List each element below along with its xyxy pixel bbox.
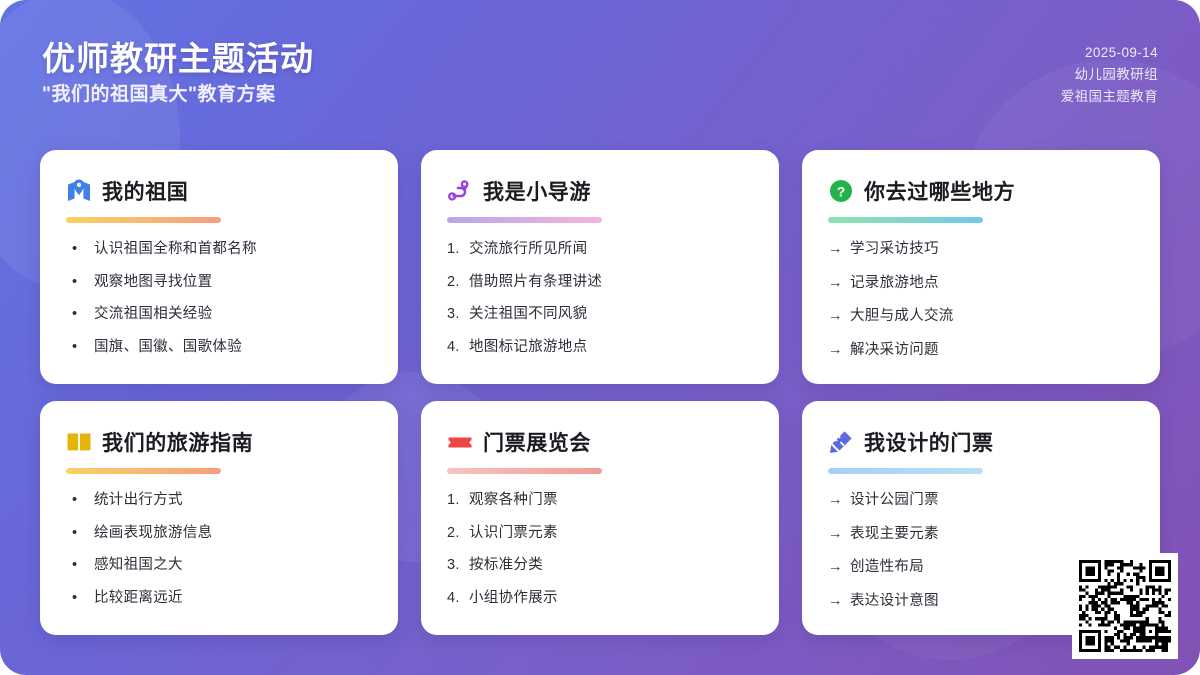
meta-theme: 爱祖国主题教育 [1061, 86, 1158, 108]
arrow-icon: → [828, 341, 850, 361]
list-marker-number: 3. [447, 556, 469, 576]
list-item-label: 借助照片有条理讲述 [469, 273, 602, 293]
arrow-icon: → [828, 558, 850, 578]
list-item: 4.小组协作展示 [447, 589, 753, 609]
list-marker-bullet: • [72, 338, 94, 358]
meta-date: 2025-09-14 [1061, 42, 1158, 64]
route-icon [447, 178, 473, 204]
card-item-list: 1.观察各种门票2.认识门票元素3.按标准分类4.小组协作展示 [447, 491, 753, 608]
card-accent-rule [447, 468, 602, 474]
slide-header: 优师教研主题活动 "我们的祖国真大"教育方案 2025-09-14 幼儿园教研组… [0, 0, 1200, 140]
list-item-label: 认识门票元素 [469, 524, 558, 544]
card-accent-rule [66, 217, 221, 223]
page-subtitle: "我们的祖国真大"教育方案 [42, 83, 314, 108]
map-pin-icon [66, 178, 92, 204]
list-marker-bullet: • [72, 240, 94, 260]
list-marker-bullet: • [72, 556, 94, 576]
header-meta: 2025-09-14 幼儿园教研组 爱祖国主题教育 [1061, 42, 1158, 108]
slide-canvas: 优师教研主题活动 "我们的祖国真大"教育方案 2025-09-14 幼儿园教研组… [0, 0, 1200, 675]
list-item-label: 解决采访问题 [850, 341, 939, 361]
card-header: ?你去过哪些地方 [828, 176, 1134, 206]
list-item-label: 设计公园门票 [850, 491, 939, 511]
card-accent-rule [828, 217, 983, 223]
arrow-icon: → [828, 592, 850, 612]
card-item-list: 1.交流旅行所见所闻2.借助照片有条理讲述3.关注祖国不同风貌4.地图标记旅游地… [447, 240, 753, 357]
list-marker-number: 2. [447, 273, 469, 293]
card-title: 我是小导游 [483, 176, 591, 206]
list-item: 4.地图标记旅游地点 [447, 338, 753, 358]
list-item-label: 表现主要元素 [850, 525, 939, 545]
list-marker-number: 4. [447, 338, 469, 358]
list-item-label: 大胆与成人交流 [850, 307, 954, 327]
list-item: →大胆与成人交流 [828, 307, 1134, 327]
list-item: •统计出行方式 [66, 491, 372, 511]
card-little-guide[interactable]: 我是小导游1.交流旅行所见所闻2.借助照片有条理讲述3.关注祖国不同风貌4.地图… [421, 150, 779, 384]
design-pen-icon [828, 429, 854, 455]
list-item-label: 感知祖国之大 [94, 556, 183, 576]
card-item-list: •统计出行方式•绘画表现旅游信息•感知祖国之大•比较距离远近 [66, 491, 372, 608]
list-item-label: 记录旅游地点 [850, 274, 939, 294]
list-item-label: 比较距离远近 [94, 589, 183, 609]
open-book-icon [66, 429, 92, 455]
card-header: 我是小导游 [447, 176, 753, 206]
list-item-label: 统计出行方式 [94, 491, 183, 511]
card-my-motherland[interactable]: 我的祖国•认识祖国全称和首都名称•观察地图寻找位置•交流祖国相关经验•国旗、国徽… [40, 150, 398, 384]
list-item-label: 观察各种门票 [469, 491, 558, 511]
list-marker-number: 3. [447, 305, 469, 325]
arrow-icon: → [828, 274, 850, 294]
card-accent-rule [447, 217, 602, 223]
card-item-list: •认识祖国全称和首都名称•观察地图寻找位置•交流祖国相关经验•国旗、国徽、国歌体… [66, 240, 372, 357]
card-header: 我设计的门票 [828, 427, 1134, 457]
list-marker-bullet: • [72, 524, 94, 544]
list-item: →解决采访问题 [828, 341, 1134, 361]
meta-organization: 幼儿园教研组 [1061, 64, 1158, 86]
list-marker-number: 2. [447, 524, 469, 544]
list-item: →学习采访技巧 [828, 240, 1134, 260]
list-marker-number: 4. [447, 589, 469, 609]
page-title: 优师教研主题活动 [42, 38, 314, 79]
list-item: •国旗、国徽、国歌体验 [66, 338, 372, 358]
card-title: 你去过哪些地方 [864, 176, 1015, 206]
list-item-label: 观察地图寻找位置 [94, 273, 212, 293]
list-item-label: 小组协作展示 [469, 589, 558, 609]
list-item: 1.观察各种门票 [447, 491, 753, 511]
list-item: 2.认识门票元素 [447, 524, 753, 544]
list-item: →设计公园门票 [828, 491, 1134, 511]
list-item: •交流祖国相关经验 [66, 305, 372, 325]
qr-code-image [1079, 560, 1171, 652]
ticket-icon [447, 429, 473, 455]
card-accent-rule [66, 468, 221, 474]
card-header: 我们的旅游指南 [66, 427, 372, 457]
card-header: 门票展览会 [447, 427, 753, 457]
card-title: 我设计的门票 [864, 427, 994, 457]
list-item: 3.关注祖国不同风貌 [447, 305, 753, 325]
card-places-visited[interactable]: ?你去过哪些地方→学习采访技巧→记录旅游地点→大胆与成人交流→解决采访问题 [802, 150, 1160, 384]
list-marker-number: 1. [447, 240, 469, 260]
card-title: 我的祖国 [102, 176, 188, 206]
card-grid: 我的祖国•认识祖国全称和首都名称•观察地图寻找位置•交流祖国相关经验•国旗、国徽… [40, 150, 1160, 635]
card-item-list: →学习采访技巧→记录旅游地点→大胆与成人交流→解决采访问题 [828, 240, 1134, 360]
list-item: →表现主要元素 [828, 525, 1134, 545]
card-accent-rule [828, 468, 983, 474]
card-ticket-expo[interactable]: 门票展览会1.观察各种门票2.认识门票元素3.按标准分类4.小组协作展示 [421, 401, 779, 635]
arrow-icon: → [828, 307, 850, 327]
list-item-label: 表达设计意图 [850, 592, 939, 612]
list-item-label: 学习采访技巧 [850, 240, 939, 260]
card-travel-guide[interactable]: 我们的旅游指南•统计出行方式•绘画表现旅游信息•感知祖国之大•比较距离远近 [40, 401, 398, 635]
list-item-label: 按标准分类 [469, 556, 543, 576]
list-item-label: 地图标记旅游地点 [469, 338, 587, 358]
question-circle-icon: ? [828, 178, 854, 204]
list-item: 3.按标准分类 [447, 556, 753, 576]
list-item-label: 交流旅行所见所闻 [469, 240, 587, 260]
card-title: 门票展览会 [483, 427, 591, 457]
list-item-label: 创造性布局 [850, 558, 924, 578]
list-item: •绘画表现旅游信息 [66, 524, 372, 544]
title-block: 优师教研主题活动 "我们的祖国真大"教育方案 [42, 38, 314, 108]
card-header: 我的祖国 [66, 176, 372, 206]
list-item: 1.交流旅行所见所闻 [447, 240, 753, 260]
list-item: →记录旅游地点 [828, 274, 1134, 294]
list-item-label: 认识祖国全称和首都名称 [94, 240, 257, 260]
list-item: •观察地图寻找位置 [66, 273, 372, 293]
list-marker-bullet: • [72, 589, 94, 609]
list-item: 2.借助照片有条理讲述 [447, 273, 753, 293]
list-item: •感知祖国之大 [66, 556, 372, 576]
list-marker-bullet: • [72, 273, 94, 293]
list-marker-bullet: • [72, 491, 94, 511]
list-item-label: 关注祖国不同风貌 [469, 305, 587, 325]
list-item-label: 交流祖国相关经验 [94, 305, 212, 325]
svg-text:?: ? [837, 184, 846, 200]
list-item: •认识祖国全称和首都名称 [66, 240, 372, 260]
list-marker-number: 1. [447, 491, 469, 511]
card-title: 我们的旅游指南 [102, 427, 253, 457]
arrow-icon: → [828, 240, 850, 260]
arrow-icon: → [828, 491, 850, 511]
qr-code[interactable] [1072, 553, 1178, 659]
list-item-label: 国旗、国徽、国歌体验 [94, 338, 242, 358]
list-item: •比较距离远近 [66, 589, 372, 609]
list-marker-bullet: • [72, 305, 94, 325]
arrow-icon: → [828, 525, 850, 545]
list-item-label: 绘画表现旅游信息 [94, 524, 212, 544]
